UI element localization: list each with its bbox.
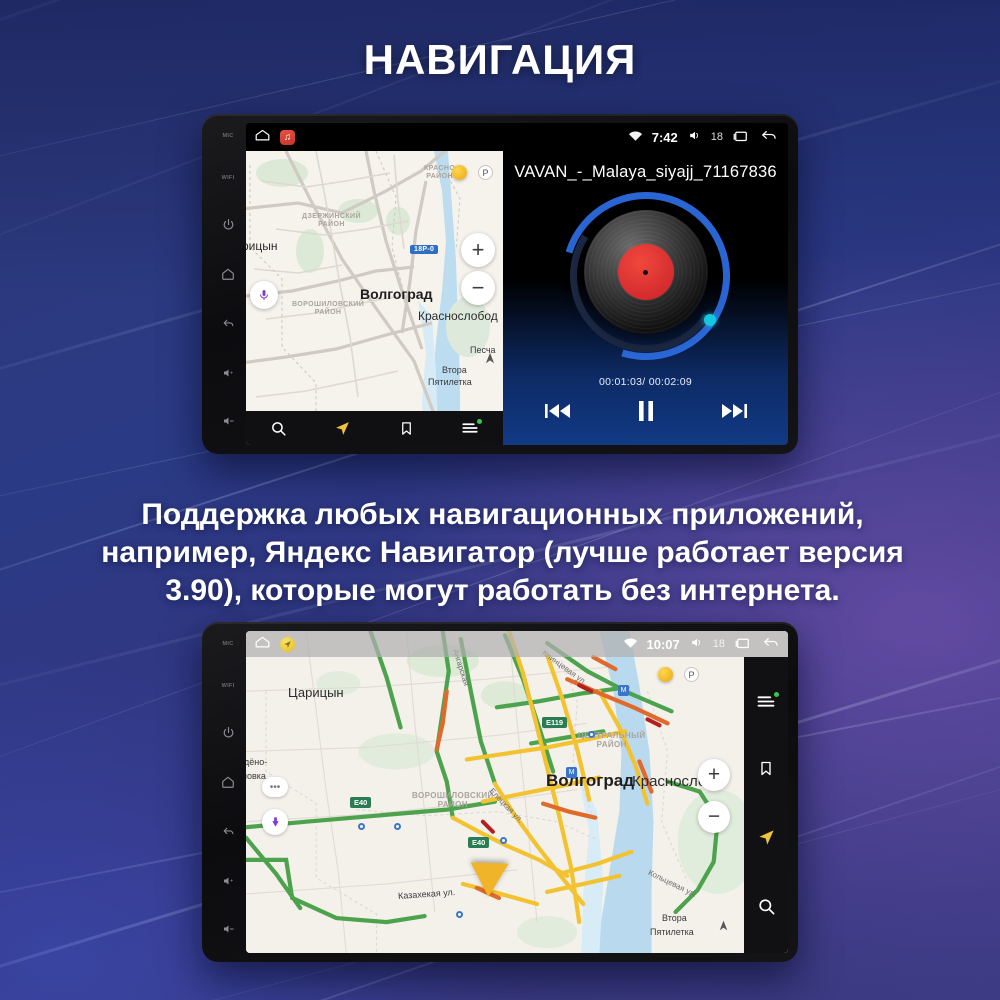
car-head-unit-bottom: MIC WIFI + [202,622,798,962]
map-town-label: Втора [662,913,687,923]
parking-poi-icon[interactable]: P [478,165,493,180]
track-timecode: 00:01:03/ 00:02:09 [599,376,692,388]
highway-badge: E40 [350,797,371,808]
map-city-label: Волгоград [360,286,432,302]
map-side-rail-bottom [744,657,788,953]
screen-top: ♫ 7:42 18 [246,123,788,445]
volume-icon [689,636,704,652]
vinyl-label [618,244,674,300]
status-bar-top: ♫ 7:42 18 [246,123,788,151]
poi-marker-icon[interactable] [658,667,673,682]
map-pane-top[interactable]: ДЗЕРЖИНСКИЙРАЙОН ВОРОШИЛОВСКИЙРАЙОН КРАС… [246,151,503,445]
map-zoom-out-button[interactable]: − [698,801,730,833]
home-icon[interactable] [221,775,235,789]
map-navigate-button[interactable] [334,420,351,437]
map-direction-marker-icon[interactable] [262,809,288,835]
volume-level: 18 [711,131,723,143]
recents-icon[interactable] [732,129,750,146]
map-district-label: ВОРОШИЛОВСКИЙРАЙОН [412,791,494,809]
compass-icon[interactable] [483,351,497,370]
highway-badge: E119 [542,717,567,728]
map-city-label: Волгоград [546,771,634,791]
parking-poi-icon[interactable]: P [684,667,699,682]
album-disc[interactable] [562,192,730,360]
home-icon[interactable] [254,635,271,654]
status-time: 10:07 [647,637,680,652]
transit-stop-icon[interactable] [358,823,365,830]
wifi-icon [623,637,638,652]
side-button-column-top: MIC WIFI + [210,123,246,445]
map-navigate-button[interactable] [757,828,776,847]
map-chat-bubble-icon[interactable]: ••• [262,777,288,797]
music-app-icon[interactable]: ♫ [280,130,295,145]
current-position-marker [469,862,508,897]
map-voice-search-button[interactable] [250,281,278,309]
next-track-button[interactable] [721,402,747,425]
map-town-label: Краснослобод [418,309,498,323]
side-button-column-bottom: MIC WIFI + [210,631,246,953]
home-icon[interactable] [254,128,271,147]
map-bookmarks-button[interactable] [399,420,414,437]
car-head-unit-top: MIC WIFI + [202,114,798,454]
map-town-label: Втора [442,365,467,375]
highway-badge: E40 [468,837,489,848]
map-town-label: рицын [246,239,278,253]
wifi-icon [628,130,643,145]
map-search-button[interactable] [757,897,776,916]
volume-icon [687,129,702,145]
navigator-app-icon[interactable] [280,637,295,652]
svg-text:+: + [230,878,233,884]
back-icon[interactable] [221,317,236,330]
map-district-label: ВОРОШИЛОВСКИЙРАЙОН [292,301,364,317]
description-paragraph: Поддержка любых навигационных приложений… [60,496,945,609]
map-pane-bottom[interactable]: 10:07 18 [246,631,788,953]
map-route-badge: 18Р-0 [410,245,438,254]
status-time: 7:42 [652,130,678,145]
map-zoom-out-button[interactable]: − [461,271,495,305]
transit-stop-icon[interactable] [500,837,507,844]
back-icon[interactable] [759,129,778,146]
map-menu-button[interactable] [461,421,479,435]
map-bookmarks-button[interactable] [758,759,774,778]
mic-label: MIC [223,641,234,647]
mic-label: MIC [223,133,234,139]
map-town-label: Пятилетка [650,927,694,937]
music-player-pane: VAVAN_-_Malaya_siyajj_71167836 00:01:03/… [503,151,788,445]
poi-marker-icon[interactable] [452,165,467,180]
transport-controls [545,400,747,427]
volume-down-icon[interactable] [221,415,236,427]
svg-text:+: + [230,370,233,376]
map-canvas-bottom [246,631,788,953]
volume-up-icon[interactable]: + [221,367,236,379]
back-icon[interactable] [761,636,780,653]
volume-up-icon[interactable]: + [221,875,236,887]
volume-level: 18 [713,638,725,650]
screen-bottom: 10:07 18 [246,631,788,953]
map-zoom-in-button[interactable]: + [698,759,730,791]
power-icon[interactable] [222,726,235,739]
page-title: НАВИГАЦИЯ [0,36,1000,84]
map-town-label: Царицын [288,685,344,700]
recents-icon[interactable] [734,636,752,653]
map-menu-badge [477,419,482,424]
metro-icon[interactable]: M [566,767,577,778]
map-district-label: КРАСНОРАЙОН [424,165,455,181]
status-bar-bottom: 10:07 18 [246,631,788,657]
vinyl-record-icon [584,210,708,334]
power-icon[interactable] [222,218,235,231]
map-town-label: новка [246,771,266,781]
compass-icon[interactable] [717,919,730,937]
map-menu-badge [774,692,779,697]
wifi-label: WIFI [222,683,235,689]
transit-stop-icon[interactable] [394,823,401,830]
play-pause-button[interactable] [637,400,655,427]
map-town-label: дёно- [246,757,267,767]
home-icon[interactable] [221,267,235,281]
mic-icon [258,287,270,303]
volume-down-icon[interactable] [221,923,236,935]
wifi-label: WIFI [222,175,235,181]
map-search-button[interactable] [270,420,287,437]
map-town-label: Пятилетка [428,377,472,387]
map-toolbar-top [246,411,503,445]
map-menu-button[interactable] [756,694,776,709]
previous-track-button[interactable] [545,402,571,425]
track-title: VAVAN_-_Malaya_siyajj_71167836 [514,163,777,182]
progress-knob[interactable] [704,314,716,326]
map-zoom-in-button[interactable]: + [461,233,495,267]
back-icon[interactable] [221,825,236,838]
map-district-label: ДЗЕРЖИНСКИЙРАЙОН [302,213,361,229]
metro-icon[interactable]: M [618,685,629,696]
transit-stop-icon[interactable] [588,731,595,738]
transit-stop-icon[interactable] [456,911,463,918]
